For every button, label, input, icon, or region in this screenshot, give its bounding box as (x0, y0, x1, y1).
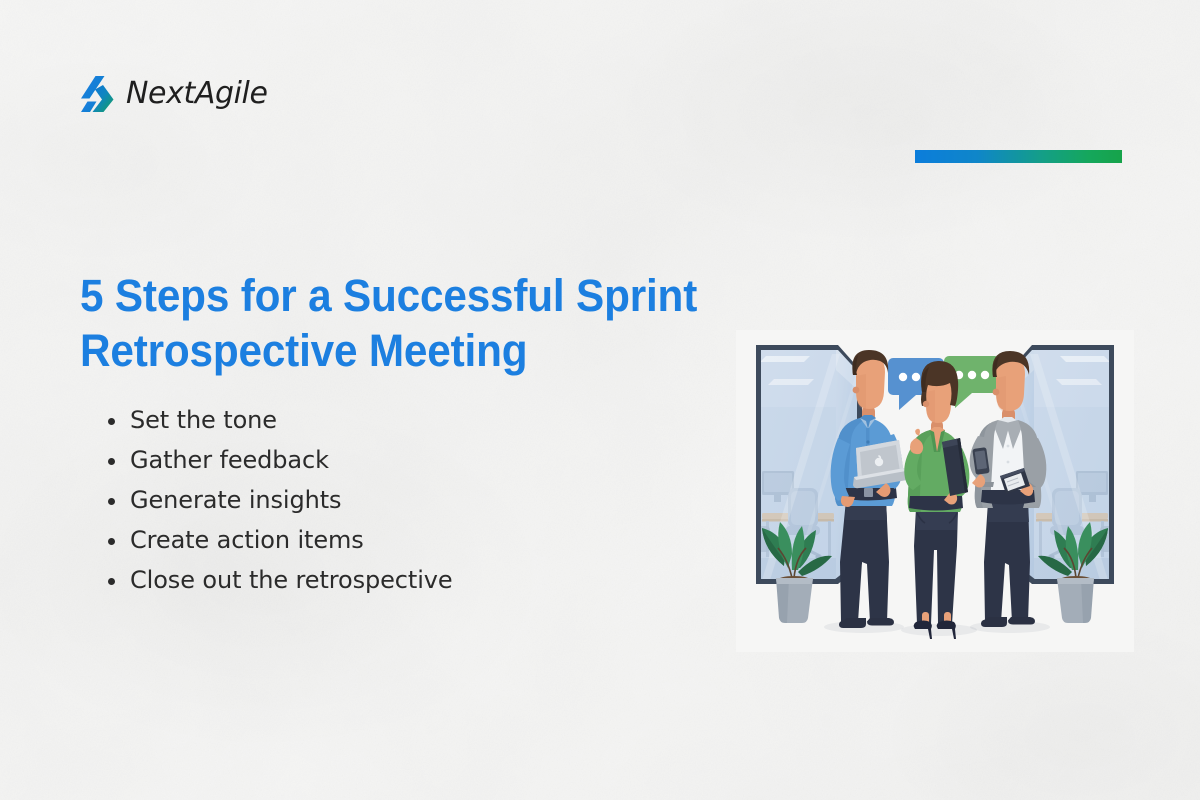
poster-canvas: NextAgile 5 Steps for a Successful Sprin… (0, 0, 1200, 800)
step-label: Generate insights (130, 486, 341, 514)
step-label: Create action items (130, 526, 364, 554)
list-item: Close out the retrospective (130, 560, 453, 600)
step-label: Gather feedback (130, 446, 329, 474)
page-title: 5 Steps for a Successful Sprint Retrospe… (80, 268, 766, 378)
list-item: Create action items (130, 520, 453, 560)
step-label: Close out the retrospective (130, 566, 453, 594)
list-item: Gather feedback (130, 440, 453, 480)
brand-logo[interactable]: NextAgile (78, 74, 268, 114)
list-item: Generate insights (130, 480, 453, 520)
office-team-discussion-illustration (736, 330, 1134, 652)
accent-bar (915, 150, 1122, 163)
list-item: Set the tone (130, 400, 453, 440)
brand-name: NextAgile (126, 79, 268, 109)
nextagile-arrow-mark-icon (78, 74, 116, 114)
steps-list: Set the tone Gather feedback Generate in… (98, 400, 453, 600)
step-label: Set the tone (130, 406, 277, 434)
